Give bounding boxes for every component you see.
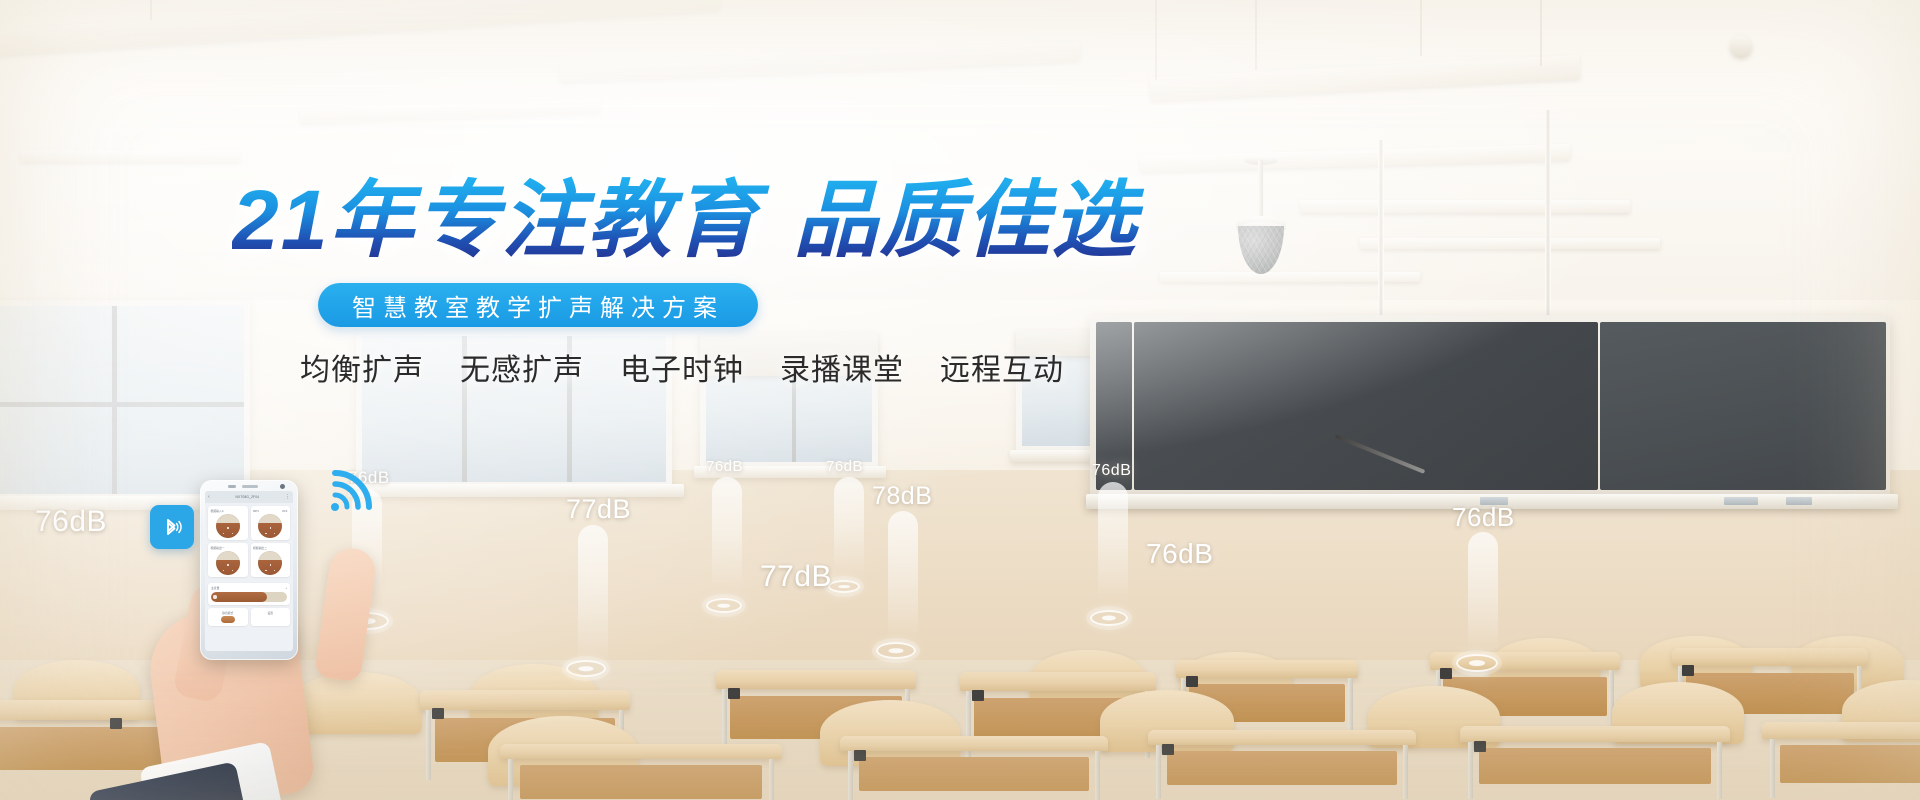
card-label: 视频输出二 bbox=[253, 546, 267, 550]
app-button-row: 静音模式设置 bbox=[205, 608, 293, 629]
ceiling-fan-right bbox=[1640, 120, 1910, 164]
back-icon[interactable]: ‹ bbox=[208, 495, 210, 500]
button-label: 静音模式 bbox=[222, 611, 233, 615]
volume-track[interactable] bbox=[211, 592, 287, 602]
db-label: 76dB bbox=[706, 458, 743, 475]
phone-earpiece bbox=[228, 485, 236, 488]
feature-item: 远程互动 bbox=[940, 345, 1064, 389]
smartphone-mockup: ‹ NXT08G_2F04 ⋮ 视频输入AMP3OFF视频输出一视频输出二 主音… bbox=[200, 480, 298, 660]
headline-part-1: 21年专注教育 bbox=[232, 173, 759, 267]
app-control-card[interactable]: 视频输入A bbox=[208, 506, 248, 540]
app-action-button[interactable]: 静音模式 bbox=[208, 608, 248, 626]
feature-list: 均衡扩声无感扩声电子时钟录播课堂远程互动 bbox=[300, 345, 1064, 389]
sound-ripple bbox=[1456, 654, 1498, 672]
volume-slider-card[interactable]: 主音量 + bbox=[208, 583, 290, 605]
app-control-card[interactable]: MP3OFF bbox=[251, 506, 291, 540]
add-icon[interactable]: + bbox=[285, 586, 287, 590]
subtitle-pill-label: 智慧教室教学扩声解决方案 bbox=[352, 288, 724, 323]
sound-ripple bbox=[706, 598, 742, 613]
rotary-dial[interactable] bbox=[258, 514, 282, 538]
sound-ripple bbox=[828, 580, 860, 593]
volume-label: 主音量 bbox=[211, 586, 219, 590]
hanging-pole-2 bbox=[1545, 110, 1551, 340]
desk bbox=[840, 736, 1108, 800]
app-titlebar: ‹ NXT08G_2F04 ⋮ bbox=[205, 491, 293, 503]
db-label: 76dB bbox=[1452, 502, 1515, 533]
interactive-display bbox=[1134, 322, 1598, 490]
volume-knob[interactable] bbox=[213, 595, 217, 599]
classroom-photo: 10:46:19 bbox=[0, 0, 1920, 800]
phone-screen: ‹ NXT08G_2F04 ⋮ 视频输入AMP3OFF视频输出一视频输出二 主音… bbox=[205, 491, 293, 651]
blackboard-wing-right bbox=[1600, 322, 1886, 490]
button-label: 设置 bbox=[267, 611, 273, 615]
rotary-dial[interactable] bbox=[216, 514, 240, 538]
overflow-menu-icon[interactable]: ⋮ bbox=[285, 495, 290, 500]
sound-ripple bbox=[876, 642, 916, 659]
db-label: 77dB bbox=[760, 560, 832, 594]
fan-motor-right bbox=[1730, 36, 1752, 58]
feature-item: 无感扩声 bbox=[460, 345, 584, 389]
app-card-grid: 视频输入AMP3OFF视频输出一视频输出二 bbox=[205, 503, 293, 580]
db-label: 77dB bbox=[566, 494, 631, 525]
window-left-1 bbox=[0, 300, 250, 500]
rotary-dial[interactable] bbox=[216, 551, 240, 575]
feature-item: 均衡扩声 bbox=[300, 345, 424, 389]
card-label: MP3 bbox=[253, 509, 259, 513]
sound-ripple bbox=[1090, 610, 1128, 626]
sound-ripple bbox=[345, 612, 389, 630]
sound-ripple bbox=[566, 660, 606, 677]
app-action-button[interactable]: 设置 bbox=[251, 608, 291, 626]
desk bbox=[0, 700, 200, 790]
feature-item: 录播课堂 bbox=[780, 345, 904, 389]
desk bbox=[1762, 722, 1920, 800]
phone-body: ‹ NXT08G_2F04 ⋮ 视频输入AMP3OFF视频输出一视频输出二 主音… bbox=[200, 480, 298, 660]
card-badge: OFF bbox=[282, 509, 288, 513]
app-title: NXT08G_2F04 bbox=[236, 495, 260, 499]
window-sill-left-2 bbox=[348, 484, 684, 497]
desk bbox=[500, 744, 782, 800]
rotary-dial[interactable] bbox=[258, 551, 282, 575]
subtitle-pill: 智慧教室教学扩声解决方案 bbox=[318, 283, 758, 327]
feature-item: 电子时钟 bbox=[620, 345, 744, 389]
phone-speaker-grille bbox=[242, 485, 258, 488]
chair bbox=[292, 672, 422, 734]
tray-control-right bbox=[1786, 497, 1812, 505]
headline-part-2: 品质佳选 bbox=[793, 173, 1137, 267]
ceiling-fan-left bbox=[300, 120, 560, 160]
page-title: 21年专注教育品质佳选 bbox=[232, 176, 1192, 264]
phone-front-camera bbox=[280, 484, 285, 489]
db-label: 76dB bbox=[1146, 538, 1213, 570]
db-label: 78dB bbox=[872, 482, 932, 511]
app-control-card[interactable]: 视频输出二 bbox=[251, 543, 291, 577]
db-label: 76dB bbox=[35, 505, 107, 539]
db-label: 76dB bbox=[1092, 462, 1131, 480]
bluetooth-icon[interactable] bbox=[150, 505, 194, 549]
speaker-rod bbox=[1258, 160, 1263, 222]
app-control-card[interactable]: 视频输出一 bbox=[208, 543, 248, 577]
desk bbox=[1148, 730, 1416, 800]
tray-control-mid bbox=[1724, 497, 1758, 505]
ceiling bbox=[0, 0, 1920, 330]
volume-fill bbox=[211, 592, 267, 602]
wifi-icon bbox=[322, 462, 380, 525]
card-label: 视频输出一 bbox=[211, 546, 225, 550]
toggle-indicator[interactable] bbox=[221, 616, 235, 623]
desk bbox=[1460, 726, 1730, 800]
db-label: 76dB bbox=[826, 458, 863, 475]
banner-stage: 10:46:19 bbox=[0, 0, 1920, 800]
card-label: 视频输入A bbox=[211, 509, 224, 513]
